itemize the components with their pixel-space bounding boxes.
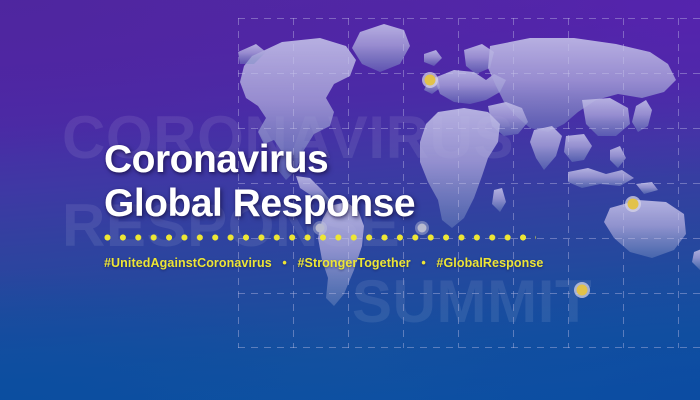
page-title: Coronavirus Global Response <box>104 138 415 226</box>
dotted-divider <box>104 234 536 241</box>
coronavirus-global-response-banner: CORONAVIRUS RESPONSE SUMMIT <box>0 0 700 400</box>
hashtag-strip: #UnitedAgainstCoronavirus • #StrongerTog… <box>104 256 543 270</box>
hashtag-global-response[interactable]: #GlobalResponse <box>436 256 543 270</box>
marker-east-pacific <box>577 285 588 296</box>
hashtag-united-against-coronavirus[interactable]: #UnitedAgainstCoronavirus <box>104 256 272 270</box>
headline-line-2: Global Response <box>104 182 415 226</box>
hashtag-stronger-together[interactable]: #StrongerTogether <box>297 256 410 270</box>
hashtag-separator-1: • <box>275 256 293 270</box>
marker-north-atlantic <box>425 75 436 86</box>
marker-mid-atlantic <box>418 224 427 233</box>
hashtag-separator-2: • <box>414 256 432 270</box>
marker-indian-ocean <box>628 199 639 210</box>
headline-line-1: Coronavirus <box>104 138 415 182</box>
